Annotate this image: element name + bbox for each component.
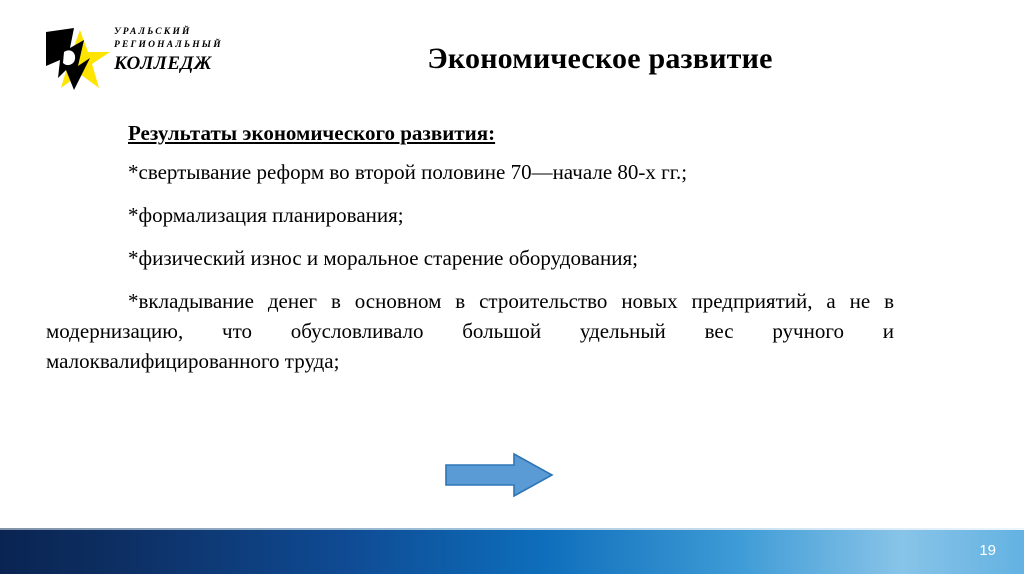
logo-wordmark: УРАЛЬСКИЙ РЕГИОНАЛЬНЫЙ КОЛЛЕДЖ <box>114 26 226 90</box>
list-item: *физический износ и моральное старение о… <box>128 243 896 273</box>
footer-bar: 19 <box>0 530 1024 574</box>
logo-line-1: УРАЛЬСКИЙ <box>114 26 226 39</box>
list-item: *формализация планирования; <box>128 200 896 230</box>
page-number: 19 <box>979 542 996 560</box>
logo-mark-icon <box>44 26 118 92</box>
slide-content: Результаты экономического развития: *све… <box>46 118 896 376</box>
section-heading: Результаты экономического развития: <box>128 118 896 148</box>
body-paragraph: *вкладывание денег в основном в строител… <box>46 286 894 376</box>
logo-line-3: КОЛЛЕДЖ <box>114 53 226 74</box>
list-item: *свертывание реформ во второй половине 7… <box>128 157 896 187</box>
college-logo: УРАЛЬСКИЙ РЕГИОНАЛЬНЫЙ КОЛЛЕДЖ <box>44 24 224 94</box>
slide-header: УРАЛЬСКИЙ РЕГИОНАЛЬНЫЙ КОЛЛЕДЖ Экономиче… <box>0 0 1024 110</box>
right-arrow-icon <box>444 452 554 498</box>
slide: УРАЛЬСКИЙ РЕГИОНАЛЬНЫЙ КОЛЛЕДЖ Экономиче… <box>0 0 1024 574</box>
page-title: Экономическое развитие <box>240 42 960 76</box>
logo-line-2: РЕГИОНАЛЬНЫЙ <box>114 39 226 52</box>
